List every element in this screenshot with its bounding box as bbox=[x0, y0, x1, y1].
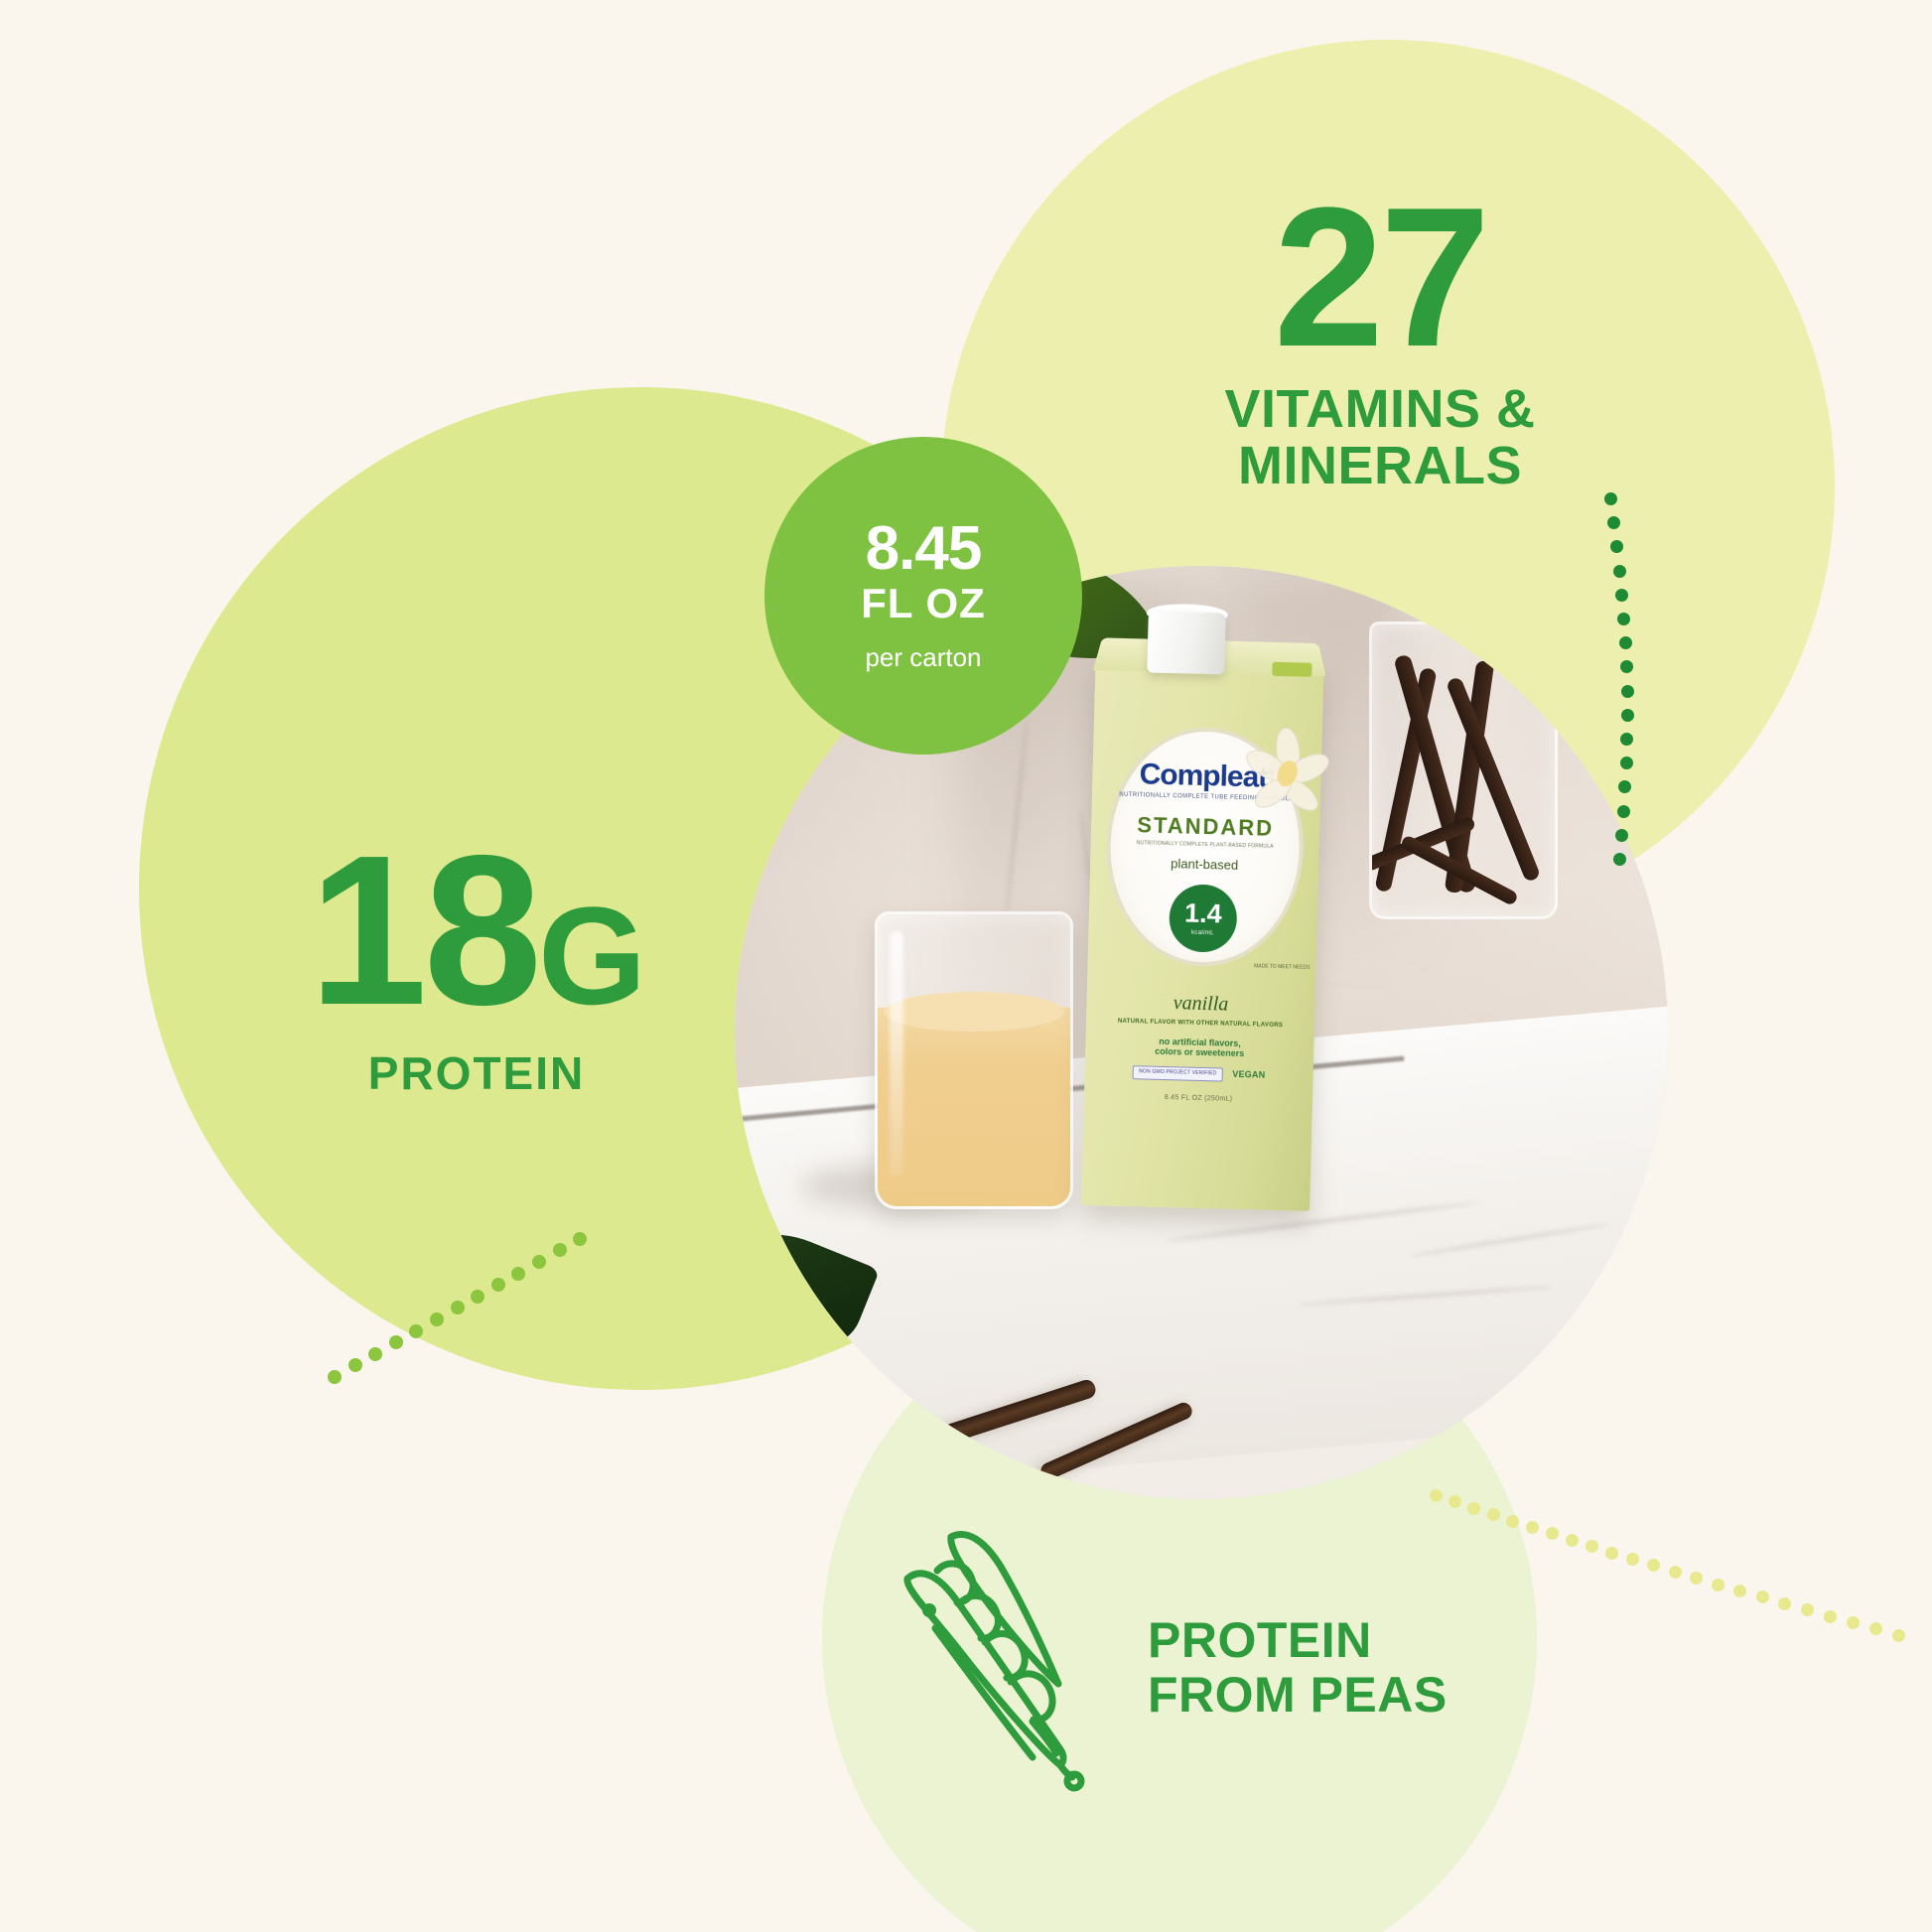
volume-badge: 8.45 FL OZ per carton bbox=[764, 437, 1082, 755]
glass-highlight bbox=[890, 931, 903, 1176]
decorative-dot bbox=[1566, 1534, 1579, 1547]
carton-bottom-text: vanilla NATURAL FLAVOR WITH OTHER NATURA… bbox=[1084, 989, 1315, 1106]
decorative-dot bbox=[1604, 492, 1617, 505]
vanilla-flower-icon bbox=[1239, 725, 1336, 822]
pea-pod-icon bbox=[894, 1519, 1122, 1817]
decorative-dot bbox=[1778, 1597, 1791, 1610]
decorative-dot bbox=[1546, 1527, 1559, 1540]
decorative-dot bbox=[1605, 1547, 1618, 1560]
vanilla-drink-glass bbox=[875, 911, 1073, 1209]
decorative-dot bbox=[1615, 829, 1628, 842]
product-descriptor: plant-based bbox=[1171, 856, 1238, 873]
peas-label-line1: PROTEIN bbox=[1148, 1613, 1448, 1668]
decorative-dot bbox=[328, 1370, 342, 1384]
stat-vitamins: 27 VITAMINS & MINERALS bbox=[1132, 189, 1628, 493]
decorative-dot bbox=[491, 1278, 505, 1292]
decorative-dot bbox=[409, 1324, 423, 1338]
claim-text: no artificial flavors, colors or sweeten… bbox=[1085, 1034, 1313, 1061]
volume-note: per carton bbox=[865, 642, 981, 673]
decorative-dot bbox=[1621, 685, 1634, 698]
decorative-dot bbox=[511, 1267, 525, 1281]
decorative-dot bbox=[532, 1255, 546, 1269]
density-unit: kcal/mL bbox=[1191, 930, 1214, 937]
flavor-name: vanilla bbox=[1086, 989, 1315, 1020]
drink-surface bbox=[884, 992, 1064, 1032]
decorative-dot bbox=[1733, 1585, 1746, 1597]
decorative-dot bbox=[1824, 1610, 1837, 1623]
decorative-dot bbox=[368, 1347, 382, 1361]
decorative-dot bbox=[1712, 1579, 1725, 1591]
non-gmo-badge: NON GMO PROJECT VERIFIED bbox=[1133, 1065, 1223, 1081]
density-value: 1.4 bbox=[1184, 900, 1222, 928]
volume-number: 8.45 bbox=[866, 518, 982, 580]
stat-peas: PROTEIN FROM PEAS bbox=[894, 1519, 1509, 1817]
decorative-dot bbox=[1690, 1572, 1703, 1585]
decorative-dot bbox=[451, 1301, 465, 1314]
variant-subtext: NUTRITIONALLY COMPLETE PLANT-BASED FORMU… bbox=[1137, 840, 1274, 850]
decorative-dot bbox=[430, 1312, 444, 1326]
protein-unit: G bbox=[538, 876, 644, 1036]
decorative-dot bbox=[1613, 853, 1626, 866]
vitamins-label: VITAMINS & MINERALS bbox=[1132, 381, 1628, 493]
decorative-dot bbox=[348, 1358, 362, 1372]
vanilla-bean-jar bbox=[1369, 621, 1558, 919]
stat-protein: 18G PROTEIN bbox=[199, 834, 755, 1100]
certification-badges: NON GMO PROJECT VERIFIED VEGAN bbox=[1085, 1064, 1313, 1084]
vitamins-label-line2: MINERALS bbox=[1132, 438, 1628, 494]
decorative-dot bbox=[1620, 757, 1633, 769]
decorative-dot bbox=[1669, 1566, 1682, 1579]
decorative-dot bbox=[1506, 1515, 1519, 1528]
infographic-canvas: Compleat® NUTRITIONALLY COMPLETE TUBE FE… bbox=[0, 0, 1932, 1932]
peas-label: PROTEIN FROM PEAS bbox=[1148, 1613, 1448, 1723]
protein-number-row: 18G bbox=[199, 834, 755, 1036]
product-carton: Compleat® NUTRITIONALLY COMPLETE TUBE FE… bbox=[1081, 610, 1325, 1211]
vitamins-number: 27 bbox=[1132, 189, 1628, 367]
vanilla-drink-liquid bbox=[878, 1008, 1070, 1206]
decorative-dot bbox=[1847, 1616, 1860, 1629]
decorative-dot bbox=[1586, 1540, 1598, 1553]
vitamins-label-line1: VITAMINS & bbox=[1132, 381, 1628, 438]
flavor-note: NATURAL FLAVOR WITH OTHER NATURAL FLAVOR… bbox=[1086, 1018, 1314, 1032]
caloric-density-badge: 1.4 kcal/mL bbox=[1169, 884, 1238, 953]
decorative-dot bbox=[471, 1290, 484, 1304]
decorative-dot bbox=[1892, 1629, 1905, 1642]
protein-label: PROTEIN bbox=[199, 1046, 755, 1100]
vegan-badge: VEGAN bbox=[1232, 1069, 1265, 1081]
decorative-dot bbox=[1621, 709, 1634, 722]
decorative-dot bbox=[1801, 1603, 1814, 1616]
carton-tab bbox=[1272, 662, 1311, 677]
decorative-dot bbox=[1756, 1590, 1769, 1603]
decorative-dot bbox=[1869, 1622, 1882, 1635]
volume-unit: FL OZ bbox=[861, 580, 986, 627]
protein-number: 18 bbox=[309, 834, 538, 1027]
decorative-dot bbox=[1430, 1489, 1443, 1502]
peas-label-line2: FROM PEAS bbox=[1148, 1668, 1448, 1723]
decorative-dot bbox=[1613, 565, 1626, 578]
decorative-dot bbox=[389, 1335, 403, 1349]
decorative-dot bbox=[553, 1243, 567, 1257]
decorative-dot bbox=[1526, 1521, 1539, 1534]
decorative-dot bbox=[1626, 1553, 1639, 1566]
decorative-dot bbox=[573, 1232, 587, 1246]
carton-cap bbox=[1147, 611, 1226, 674]
decorative-dot bbox=[1617, 805, 1630, 818]
decorative-dot bbox=[1487, 1508, 1500, 1521]
decorative-dot bbox=[1647, 1559, 1660, 1572]
